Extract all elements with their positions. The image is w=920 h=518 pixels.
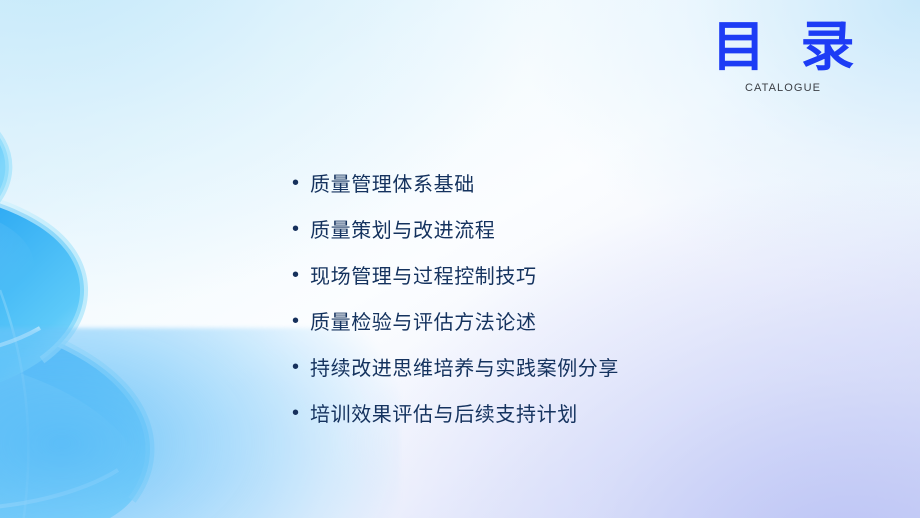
- page-subtitle: CATALOGUE: [668, 82, 898, 94]
- list-item[interactable]: • 质量检验与评估方法论述: [292, 306, 852, 352]
- catalogue-slide: 目 录 CATALOGUE • 质量管理体系基础 • 质量策划与改进流程 • 现…: [0, 0, 920, 518]
- bullet-icon: •: [292, 403, 310, 423]
- bullet-icon: •: [292, 219, 310, 239]
- catalogue-header: 目 录 CATALOGUE: [668, 20, 898, 94]
- list-item-label: 质量策划与改进流程: [310, 214, 495, 243]
- agenda-list: • 质量管理体系基础 • 质量策划与改进流程 • 现场管理与过程控制技巧 • 质…: [292, 168, 852, 444]
- bullet-icon: •: [292, 357, 310, 377]
- list-item[interactable]: • 质量管理体系基础: [292, 168, 852, 214]
- bullet-icon: •: [292, 311, 310, 331]
- list-item-label: 质量管理体系基础: [310, 168, 475, 197]
- bullet-icon: •: [292, 173, 310, 193]
- list-item-label: 培训效果评估与后续支持计划: [310, 398, 578, 427]
- list-item[interactable]: • 质量策划与改进流程: [292, 214, 852, 260]
- list-item[interactable]: • 现场管理与过程控制技巧: [292, 260, 852, 306]
- page-title: 目 录: [668, 20, 908, 74]
- list-item[interactable]: • 培训效果评估与后续支持计划: [292, 398, 852, 444]
- list-item-label: 现场管理与过程控制技巧: [310, 260, 537, 289]
- list-item-label: 持续改进思维培养与实践案例分享: [310, 352, 619, 381]
- blue-glass-spiral-graphic: [0, 60, 330, 518]
- list-item[interactable]: • 持续改进思维培养与实践案例分享: [292, 352, 852, 398]
- list-item-label: 质量检验与评估方法论述: [310, 306, 537, 335]
- bullet-icon: •: [292, 265, 310, 285]
